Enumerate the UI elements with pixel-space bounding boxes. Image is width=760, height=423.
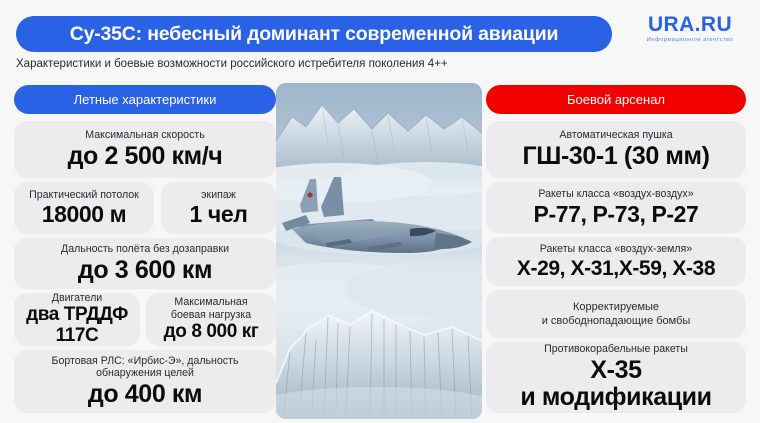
stat-value: до 2 500 км/ч <box>68 143 223 171</box>
stat-card-payload: Максимальная боевая нагрузка до 8 000 кг <box>146 293 276 346</box>
stat-value: два ТРДДФ 117С <box>26 305 128 346</box>
logo-tagline: Информационное агентство <box>634 37 746 43</box>
stat-value: до 3 600 км <box>78 257 212 285</box>
arsenal-card-bombs: Корректируемые и свободнопадающие бомбы <box>486 290 746 338</box>
stat-card-max-speed: Максимальная скорость до 2 500 км/ч <box>14 121 276 178</box>
left-column-header-label: Летные характеристики <box>74 92 217 107</box>
page-title-bar: Су-35С: небесный доминант современной ав… <box>16 16 612 52</box>
page-subtitle: Характеристики и боевые возможности росс… <box>16 58 448 70</box>
arsenal-card-air-to-ground: Ракеты класса «воздух-земля» Х-29, Х-31,… <box>486 237 746 286</box>
infographic-page: Су-35С: небесный доминант современной ав… <box>0 0 760 423</box>
stat-value: до 8 000 кг <box>164 322 259 343</box>
right-column-header: Боевой арсенал <box>486 85 746 114</box>
stat-value: до 400 км <box>88 381 202 409</box>
arsenal-card-anti-ship: Противокорабельные ракеты Х-35 и модифик… <box>486 342 746 413</box>
stat-card-engines: Двигатели два ТРДДФ 117С <box>14 293 140 346</box>
left-column-header: Летные характеристики <box>14 85 276 114</box>
stat-value: 1 чел <box>190 202 248 227</box>
arsenal-value: Х-29, Х-31,Х-59, Х-38 <box>517 257 715 280</box>
jet-photo-illustration <box>276 83 482 419</box>
stat-card-crew: экипаж 1 чел <box>161 182 276 234</box>
right-column-header-label: Боевой арсенал <box>567 92 665 107</box>
logo-wordmark: URA.RU <box>634 14 746 36</box>
stat-label: Максимальная боевая нагрузка <box>171 296 251 321</box>
stat-card-service-ceiling: Практический потолок 18000 м <box>14 182 154 234</box>
stat-value: 18000 м <box>42 202 127 227</box>
arsenal-value: Р-77, Р-73, Р-27 <box>534 202 699 227</box>
stat-card-range: Дальность полёта без дозаправки до 3 600… <box>14 238 276 289</box>
page-title: Су-35С: небесный доминант современной ав… <box>70 23 559 46</box>
arsenal-value: ГШ-30-1 (30 мм) <box>523 143 710 171</box>
arsenal-label: Противокорабельные ракеты <box>544 343 688 356</box>
ura-ru-logo[interactable]: URA.RU Информационное агентство <box>634 14 746 43</box>
stat-label: экипаж <box>201 189 236 202</box>
arsenal-value: Х-35 и модификации <box>520 357 711 412</box>
arsenal-card-cannon: Автоматическая пушка ГШ-30-1 (30 мм) <box>486 121 746 178</box>
stat-label: Максимальная скорость <box>85 129 205 142</box>
arsenal-label: Ракеты класса «воздух-земля» <box>540 243 692 256</box>
stat-label: Дальность полёта без дозаправки <box>61 243 229 256</box>
arsenal-label: Корректируемые и свободнопадающие бомбы <box>542 300 691 329</box>
arsenal-card-air-to-air: Ракеты класса «воздух-воздух» Р-77, Р-73… <box>486 182 746 233</box>
arsenal-label: Ракеты класса «воздух-воздух» <box>538 188 693 201</box>
stat-label: Двигатели <box>52 293 102 304</box>
jet-photo <box>276 83 482 419</box>
stat-card-radar: Бортовая РЛС: «Ирбис-Э», дальность обнар… <box>14 350 276 413</box>
stat-label: Бортовая РЛС: «Ирбис-Э», дальность обнар… <box>52 355 239 380</box>
arsenal-label: Автоматическая пушка <box>559 129 672 142</box>
stat-label: Практический потолок <box>29 189 139 202</box>
